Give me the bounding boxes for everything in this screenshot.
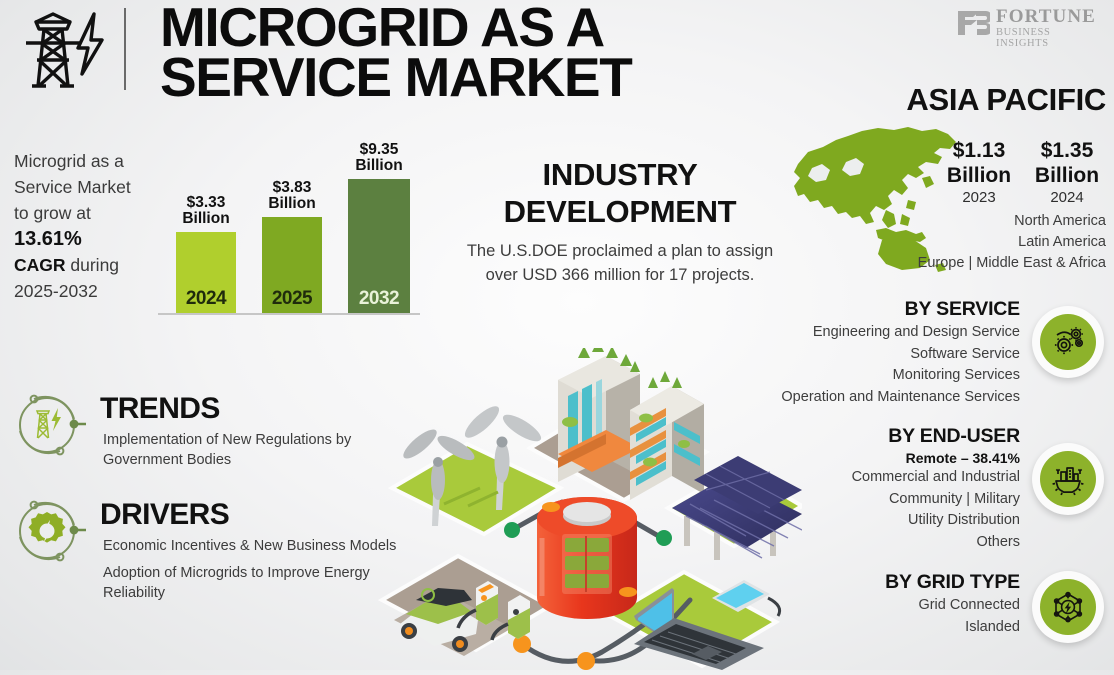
green-building bbox=[630, 371, 704, 500]
cagr-line-2: Service Market bbox=[14, 174, 164, 200]
segment-icon-button[interactable] bbox=[1032, 571, 1104, 643]
drivers-block: DRIVERS Economic Incentives & New Busine… bbox=[8, 492, 408, 602]
drivers-item: Economic Incentives & New Business Model… bbox=[103, 536, 413, 556]
industry-development-body: The U.S.DOE proclaimed a plan to assign … bbox=[432, 239, 808, 287]
segment-item: Monitoring Services bbox=[766, 365, 1020, 386]
segment-item: Operation and Maintenance Services bbox=[766, 387, 1020, 408]
cagr-label: CAGR bbox=[14, 255, 66, 275]
segment-item: Commercial and Industrial bbox=[766, 467, 1020, 488]
gears-icon bbox=[1051, 325, 1085, 359]
bar-2032: $9.35Billion 2032 bbox=[348, 179, 410, 313]
power-tower-circle-icon bbox=[8, 386, 86, 464]
asia-pacific-figure-2023: $1.13 Billion 2023 bbox=[940, 138, 1018, 208]
figure-year: 2023 bbox=[940, 188, 1018, 208]
bar-group-2032: $9.35Billion 2032 bbox=[348, 179, 410, 313]
drivers-items: Economic Incentives & New Business Model… bbox=[103, 536, 413, 610]
segment-item: Community | Military bbox=[766, 489, 1020, 510]
cagr-line-1: Microgrid as a bbox=[14, 148, 164, 174]
asia-pacific-figure-2024: $1.35 Billion 2024 bbox=[1028, 138, 1106, 208]
cagr-during: during bbox=[66, 255, 120, 275]
industry-gear-icon bbox=[1050, 461, 1086, 497]
trends-item: Implementation of New Regulations by Gov… bbox=[103, 430, 413, 470]
asia-pacific-region-list: North America Latin America Europe | Mid… bbox=[918, 211, 1106, 274]
logo-name: FORTUNE bbox=[996, 6, 1096, 28]
segment-title: BY GRID TYPE bbox=[766, 571, 1020, 594]
bar-2025: $3.83Billion 2025 bbox=[262, 217, 322, 313]
chart-baseline bbox=[158, 313, 420, 315]
infographic-page: MICROGRID AS A SERVICE MARKET FORTUNE BU… bbox=[0, 0, 1114, 670]
power-tower-icon bbox=[14, 8, 114, 92]
asia-pacific-title: ASIA PACIFIC bbox=[906, 82, 1106, 118]
cagr-period: 2025-2032 bbox=[14, 278, 164, 304]
bar-group-2025: $3.83Billion 2025 bbox=[262, 217, 322, 313]
fb-monogram-icon bbox=[956, 9, 990, 37]
bar-2024: $3.33Billion 2024 bbox=[176, 232, 236, 313]
cagr-rate: 13.61% bbox=[14, 226, 164, 252]
bar-label-2024: $3.33Billion bbox=[182, 195, 229, 227]
cagr-line-3: to grow at bbox=[14, 200, 164, 226]
segment-by-grid-type: BY GRID TYPE Grid Connected Islanded bbox=[766, 571, 1106, 651]
industry-development-block: INDUSTRY DEVELOPMENT The U.S.DOE proclai… bbox=[432, 156, 808, 287]
drivers-item: Adoption of Microgrids to Improve Energy… bbox=[103, 563, 413, 603]
isometric-microgrid-scene bbox=[372, 348, 802, 670]
segment-body: BY SERVICE Engineering and Design Servic… bbox=[766, 298, 1020, 407]
segment-body: BY GRID TYPE Grid Connected Islanded bbox=[766, 571, 1020, 637]
bar-group-2024: $3.33Billion 2024 bbox=[176, 232, 236, 313]
asia-pacific-block: ASIA PACIFIC $1.13 Billion 2023 $1.35 B bbox=[790, 82, 1110, 282]
segment-by-end-user: BY END-USER Remote – 38.41% Commercial a… bbox=[766, 425, 1106, 545]
segment-item: Utility Distribution bbox=[766, 510, 1020, 531]
drivers-title: DRIVERS bbox=[100, 498, 229, 532]
segment-title: BY END-USER bbox=[766, 425, 1020, 448]
region-item: Latin America bbox=[918, 232, 1106, 253]
segment-title: BY SERVICE bbox=[766, 298, 1020, 321]
segment-by-service: BY SERVICE Engineering and Design Servic… bbox=[766, 298, 1106, 398]
bar-year-2024: 2024 bbox=[176, 288, 236, 310]
bar-label-2032: $9.35Billion bbox=[355, 142, 402, 174]
logo-tagline: BUSINESS INSIGHTS bbox=[996, 27, 1106, 49]
bar-label-2025: $3.83Billion bbox=[268, 180, 315, 212]
trends-block: TRENDS Implementation of New Regulations… bbox=[8, 386, 408, 476]
trends-title: TRENDS bbox=[100, 392, 220, 426]
page-title: MICROGRID AS A SERVICE MARKET bbox=[160, 2, 820, 102]
figure-value: $1.35 bbox=[1028, 138, 1106, 163]
trends-items: Implementation of New Regulations by Gov… bbox=[103, 430, 413, 477]
segment-item: Grid Connected bbox=[766, 595, 1020, 616]
figure-year: 2024 bbox=[1028, 188, 1106, 208]
industry-development-title: INDUSTRY DEVELOPMENT bbox=[432, 156, 808, 230]
grid-network-icon bbox=[1051, 590, 1085, 624]
battery-storage bbox=[537, 497, 637, 619]
segment-item: Software Service bbox=[766, 344, 1020, 365]
green-building bbox=[558, 348, 640, 482]
header-divider bbox=[124, 8, 126, 90]
segment-highlight: Remote – 38.41% bbox=[766, 450, 1020, 466]
region-item: North America bbox=[918, 211, 1106, 232]
segment-icon-button[interactable] bbox=[1032, 306, 1104, 378]
figure-unit: Billion bbox=[940, 163, 1018, 188]
figure-value: $1.13 bbox=[940, 138, 1018, 163]
battery-level-bars bbox=[562, 534, 612, 594]
bar-year-2025: 2025 bbox=[262, 288, 322, 310]
market-bar-chart: $3.33Billion 2024 $3.83Billion 2025 $9.3… bbox=[158, 130, 420, 315]
fortune-business-insights-logo: FORTUNE BUSINESS INSIGHTS bbox=[956, 6, 1106, 48]
bar-year-2032: 2032 bbox=[348, 288, 410, 310]
figure-unit: Billion bbox=[1028, 163, 1106, 188]
cagr-statement: Microgrid as a Service Market to grow at… bbox=[14, 148, 164, 304]
segment-body: BY END-USER Remote – 38.41% Commercial a… bbox=[766, 425, 1020, 552]
rooftop-trees bbox=[648, 371, 682, 388]
segment-item: Engineering and Design Service bbox=[766, 322, 1020, 343]
region-item: Europe | Middle East & Africa bbox=[918, 253, 1106, 274]
segment-item: Others bbox=[766, 532, 1020, 553]
segment-icon-button[interactable] bbox=[1032, 443, 1104, 515]
gear-bolt-circle-icon bbox=[8, 492, 86, 570]
segment-item: Islanded bbox=[766, 617, 1020, 638]
